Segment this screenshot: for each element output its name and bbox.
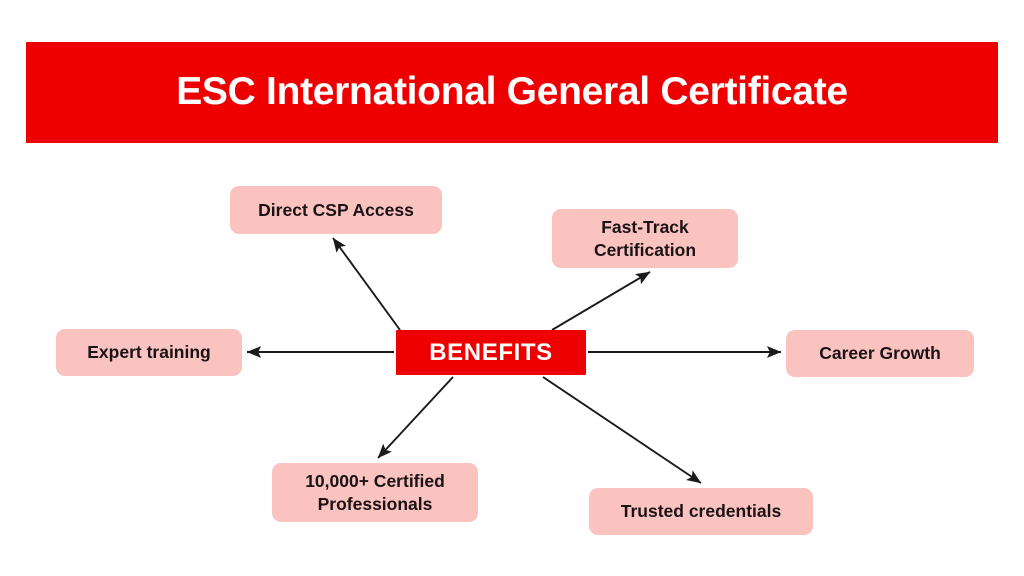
slide-canvas: ESC International General Certificate Di… <box>0 0 1024 576</box>
node-certified-professionals-label-line1: 10,000+ Certified <box>305 470 445 492</box>
connector-certified-professionals <box>378 377 453 458</box>
node-career-growth-label: Career Growth <box>819 342 941 364</box>
node-trusted-credentials-label: Trusted credentials <box>621 500 781 522</box>
node-expert-training[interactable]: Expert training <box>56 329 242 376</box>
connector-trusted-credentials <box>543 377 701 483</box>
header-banner: ESC International General Certificate <box>26 42 998 143</box>
node-trusted-credentials[interactable]: Trusted credentials <box>589 488 813 535</box>
node-fast-track-certification-label-line1: Fast-Track <box>594 216 696 238</box>
page-title: ESC International General Certificate <box>176 71 848 114</box>
node-fast-track-certification-label-line2: Certification <box>594 239 696 261</box>
node-benefits-center[interactable]: BENEFITS <box>396 330 586 375</box>
node-direct-csp-access[interactable]: Direct CSP Access <box>230 186 442 234</box>
node-direct-csp-access-label: Direct CSP Access <box>258 199 414 221</box>
node-expert-training-label: Expert training <box>87 341 211 363</box>
node-certified-professionals[interactable]: 10,000+ Certified Professionals <box>272 463 478 522</box>
node-benefits-center-label: BENEFITS <box>429 339 552 367</box>
node-fast-track-certification[interactable]: Fast-Track Certification <box>552 209 738 268</box>
node-certified-professionals-label-line2: Professionals <box>305 493 445 515</box>
connector-direct-csp-access <box>333 238 400 330</box>
connector-fast-track-certification <box>552 272 650 330</box>
node-career-growth[interactable]: Career Growth <box>786 330 974 377</box>
